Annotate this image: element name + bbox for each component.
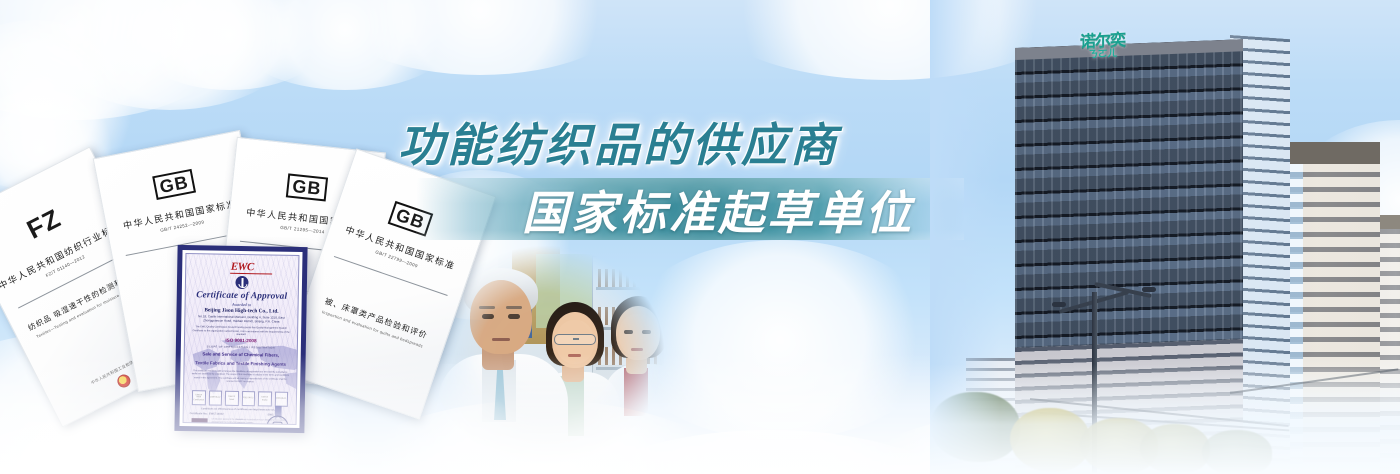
office-tower-photo: 诺尔奕 ㄋㄛㄦ xyxy=(930,0,1400,474)
headline-line-2: 国家标准起草单位 xyxy=(522,190,914,236)
tree xyxy=(1080,418,1158,474)
eyeglasses-icon xyxy=(554,334,596,345)
hero-banner: 诺尔奕 ㄋㄛㄦ xyxy=(0,0,1400,474)
street-lamp-head xyxy=(1142,287,1156,292)
rooftop-sign: 诺尔奕 ㄋㄛㄦ xyxy=(1080,33,1125,61)
certificate-body-text: The EWC Quality Certification Council he… xyxy=(191,325,291,338)
headline-line-1: 功能纺织品的供应商 xyxy=(398,122,839,168)
cloud xyxy=(40,0,300,110)
cloud xyxy=(0,0,240,120)
headline-group: 功能纺织品的供应商 国家标准起草单位 xyxy=(0,106,1000,246)
certificate-address: No.18, Castle International Mansion, Bui… xyxy=(189,314,293,325)
tree xyxy=(1140,424,1210,474)
main-office-tower xyxy=(1015,39,1243,468)
background-building xyxy=(966,358,1026,473)
street-lamp-pole xyxy=(1092,292,1097,474)
tree xyxy=(930,392,1020,462)
tree xyxy=(1202,430,1272,474)
tree xyxy=(1010,408,1090,472)
power-line xyxy=(1230,368,1399,394)
cloud xyxy=(130,0,330,90)
certificate-title: Certificate of Approval xyxy=(186,290,298,301)
street-lamp-head xyxy=(1052,302,1066,307)
power-line xyxy=(1040,412,1290,431)
cloud xyxy=(330,0,630,75)
power-line xyxy=(1030,398,1289,427)
cloud xyxy=(230,0,460,90)
second-tower xyxy=(1275,142,1380,472)
